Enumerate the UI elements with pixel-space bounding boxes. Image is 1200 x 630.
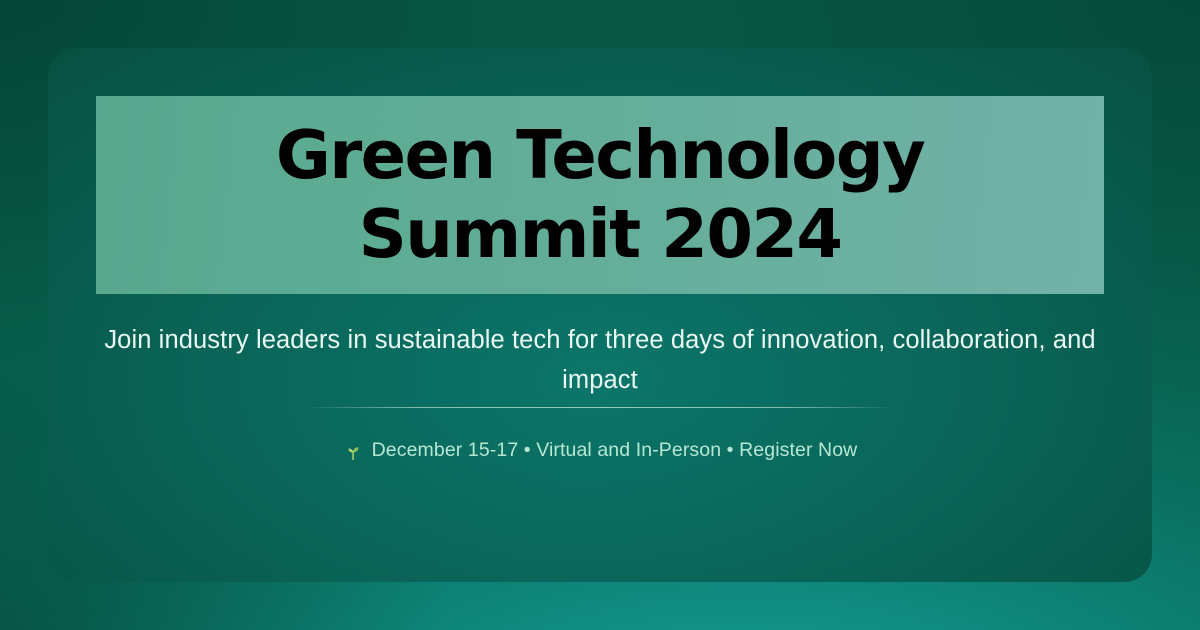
seedling-icon	[343, 441, 363, 461]
divider	[313, 407, 887, 408]
footer-meta-row: December 15-17 • Virtual and In-Person •…	[96, 434, 1104, 466]
title-band: Green Technology Summit 2024	[96, 96, 1104, 294]
poster-root: Green Technology Summit 2024 Join indust…	[0, 0, 1200, 630]
footer-meta-text: December 15-17 • Virtual and In-Person •…	[372, 434, 858, 466]
subtitle-text: Join industry leaders in sustainable tec…	[96, 320, 1104, 400]
poster-card: Green Technology Summit 2024 Join indust…	[48, 48, 1152, 582]
page-title: Green Technology Summit 2024	[96, 116, 1104, 274]
